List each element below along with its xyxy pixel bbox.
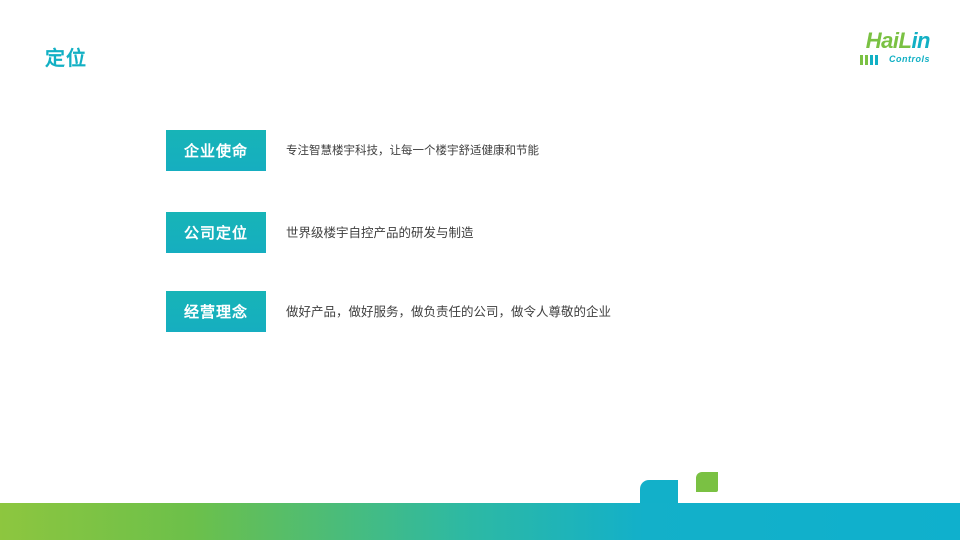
list-item: 经营理念 做好产品，做好服务，做负责任的公司，做令人尊敬的企业	[166, 291, 611, 332]
chip-mission: 企业使命	[166, 130, 266, 171]
chip-positioning: 公司定位	[166, 212, 266, 253]
slide-canvas: 定位 HaiLin Controls 企业使命 专注智慧楼宇科技，让每一个楼宇舒…	[0, 0, 960, 540]
description-positioning: 世界级楼宇自控产品的研发与制造	[286, 224, 474, 242]
description-mission: 专注智慧楼宇科技，让每一个楼宇舒适健康和节能	[286, 142, 539, 160]
footer-gradient-bar	[0, 503, 960, 540]
decoration-square-green-top	[696, 472, 718, 492]
chip-philosophy: 经营理念	[166, 291, 266, 332]
description-philosophy: 做好产品，做好服务，做负责任的公司，做令人尊敬的企业	[286, 303, 611, 321]
list-item: 公司定位 世界级楼宇自控产品的研发与制造	[166, 212, 474, 253]
content-rows: 企业使命 专注智慧楼宇科技，让每一个楼宇舒适健康和节能 公司定位 世界级楼宇自控…	[0, 0, 960, 540]
list-item: 企业使命 专注智慧楼宇科技，让每一个楼宇舒适健康和节能	[166, 130, 539, 171]
